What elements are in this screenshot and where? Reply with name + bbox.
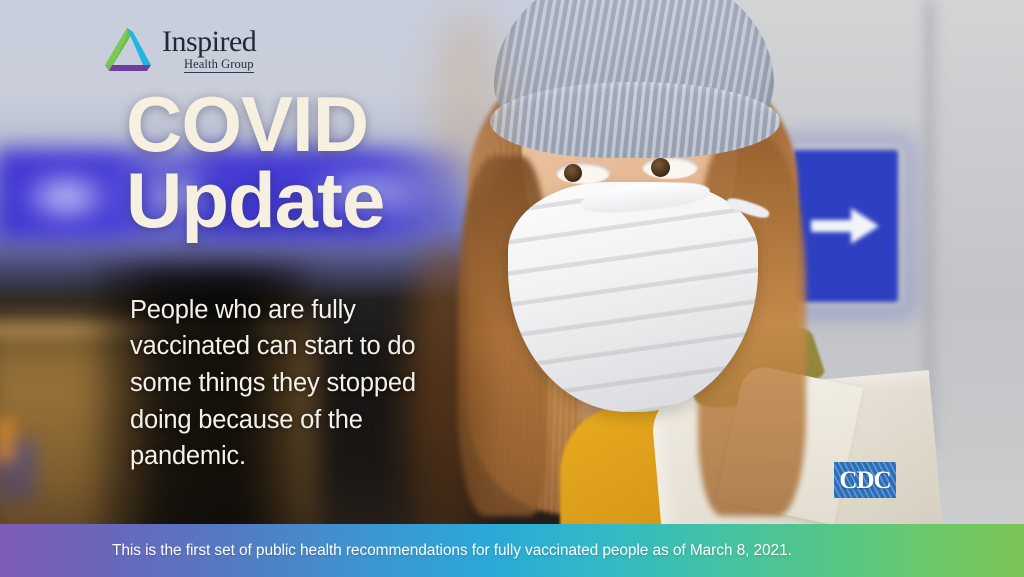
body-paragraph: People who are fully vaccinated can star… [130,292,460,476]
signage-glow-left [18,168,114,226]
orange-bokeh-chip [0,418,16,462]
headline: COVID Update [126,86,384,239]
iris-left [564,164,582,182]
headline-line-2: Update [126,162,384,238]
beanie-brim-texture [490,82,780,158]
foreground-bokeh-top [432,10,502,190]
cdc-label: CDC [834,462,896,498]
brand-logo: Inspired Health Group [100,24,256,76]
logo-subtitle: Health Group [184,58,254,73]
logo-wordmark: Inspired Health Group [162,27,256,73]
bottom-banner: This is the first set of public health r… [0,524,1024,577]
cdc-logo-badge: CDC [834,462,896,498]
covid-update-graphic: CDC Inspired Health Group COVID Update P… [0,0,1024,577]
headline-line-1: COVID [126,80,368,168]
iris-right [651,158,670,177]
inspired-triangle-icon [100,24,156,76]
logo-name: Inspired [162,27,256,57]
banner-text: This is the first set of public health r… [112,542,792,560]
